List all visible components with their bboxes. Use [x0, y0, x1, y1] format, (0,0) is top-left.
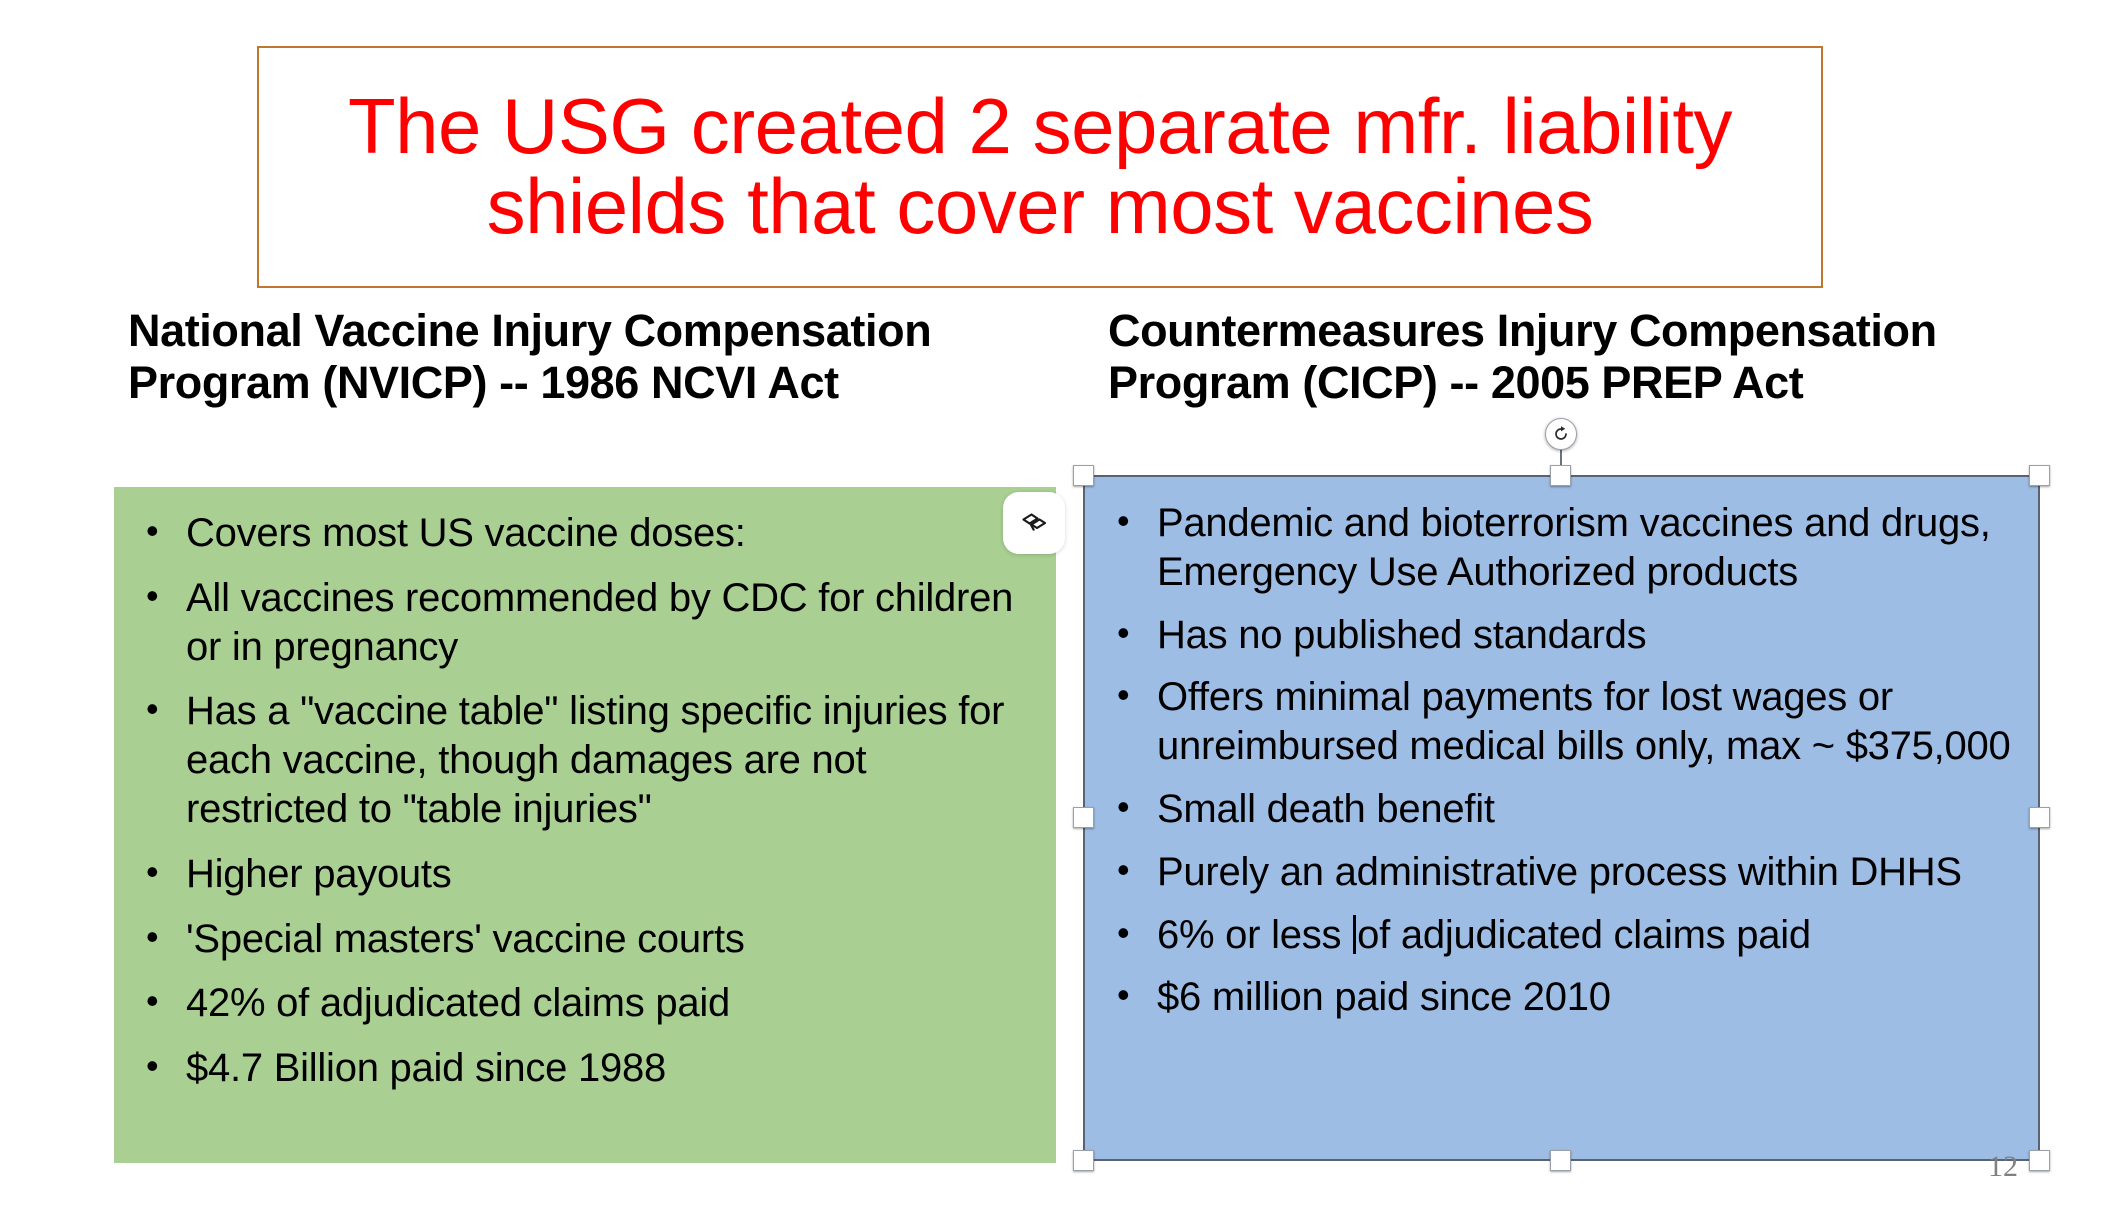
- text-cursor-caret: [1353, 915, 1356, 954]
- slide-canvas: The USG created 2 separate mfr. liabilit…: [0, 0, 2122, 1208]
- nvicp-bullet[interactable]: 42% of adjudicated claims paid: [140, 979, 1030, 1028]
- bullet-text-after-caret: of adjudicated claims paid: [1357, 913, 1811, 957]
- cicp-bullet[interactable]: Has no published standards: [1111, 611, 2012, 660]
- resize-handle-middle-left[interactable]: [1073, 807, 1094, 828]
- resize-handle-middle-right[interactable]: [2029, 807, 2050, 828]
- right-column-heading[interactable]: Countermeasures Injury Compensation Prog…: [1108, 305, 2038, 409]
- bullet-text-before-caret: 6% or less: [1157, 913, 1352, 957]
- slide-title-box[interactable]: The USG created 2 separate mfr. liabilit…: [257, 46, 1823, 288]
- slide-number: 12: [1988, 1150, 2018, 1184]
- resize-handle-top-center[interactable]: [1550, 465, 1571, 486]
- nvicp-bullet[interactable]: 'Special masters' vaccine courts: [140, 915, 1030, 964]
- cicp-bullet[interactable]: Purely an administrative process within …: [1111, 848, 2012, 897]
- cicp-bullet[interactable]: $6 million paid since 2010: [1111, 973, 2012, 1022]
- cicp-bullet[interactable]: 6% or less of adjudicated claims paid: [1111, 911, 2012, 960]
- resize-handle-top-right[interactable]: [2029, 465, 2050, 486]
- page-title: The USG created 2 separate mfr. liabilit…: [259, 87, 1821, 246]
- cicp-bullet-list: Pandemic and bioterrorism vaccines and d…: [1111, 499, 2012, 1022]
- nvicp-bullet[interactable]: All vaccines recommended by CDC for chil…: [140, 574, 1030, 672]
- cicp-bullet[interactable]: Pandemic and bioterrorism vaccines and d…: [1111, 499, 2012, 597]
- left-column-heading[interactable]: National Vaccine Injury Compensation Pro…: [128, 305, 1028, 409]
- nvicp-bullet[interactable]: Has a "vaccine table" listing specific i…: [140, 687, 1030, 833]
- nvicp-content-box[interactable]: Covers most US vaccine doses:All vaccine…: [114, 487, 1056, 1163]
- anthropic-logo-icon[interactable]: [1003, 492, 1065, 554]
- nvicp-bullet[interactable]: $4.7 Billion paid since 1988: [140, 1044, 1030, 1093]
- cicp-content-box[interactable]: Pandemic and bioterrorism vaccines and d…: [1083, 475, 2040, 1161]
- cicp-bullet[interactable]: Small death benefit: [1111, 785, 2012, 834]
- nvicp-bullet[interactable]: Covers most US vaccine doses:: [140, 509, 1030, 558]
- resize-handle-top-left[interactable]: [1073, 465, 1094, 486]
- resize-handle-bottom-right[interactable]: [2029, 1150, 2050, 1171]
- rotate-handle-icon[interactable]: [1545, 418, 1577, 450]
- resize-handle-bottom-center[interactable]: [1550, 1150, 1571, 1171]
- resize-handle-bottom-left[interactable]: [1073, 1150, 1094, 1171]
- cicp-bullet[interactable]: Offers minimal payments for lost wages o…: [1111, 673, 2012, 771]
- nvicp-bullet-list: Covers most US vaccine doses:All vaccine…: [140, 509, 1030, 1093]
- nvicp-bullet[interactable]: Higher payouts: [140, 850, 1030, 899]
